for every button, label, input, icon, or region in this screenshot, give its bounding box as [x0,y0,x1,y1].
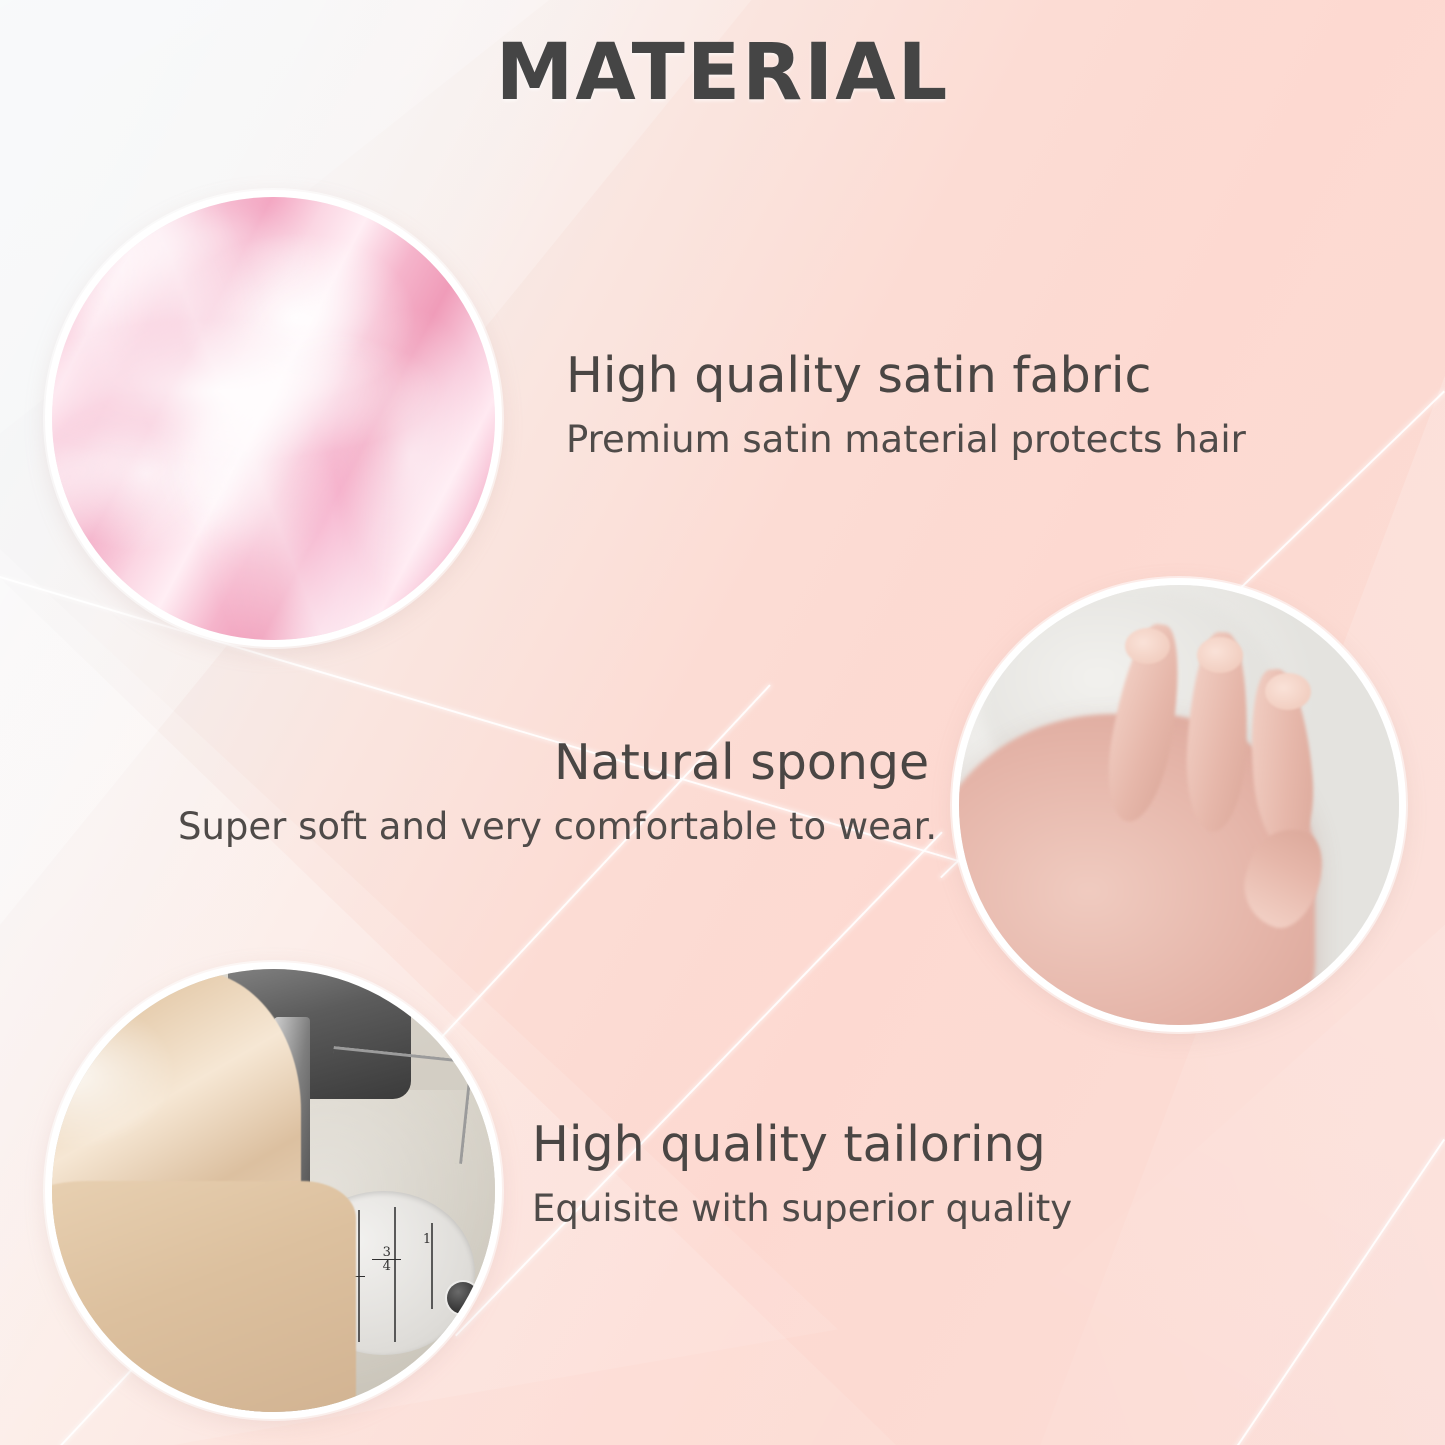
plate-marking-tq-denominator: 4 [372,1260,401,1273]
plate-marking-one-value: 1 [412,1233,441,1246]
feature-text-quality-tailoring: High quality tailoring Equisite with sup… [532,1117,1072,1232]
satin-fabric-lower-drape [45,1181,356,1419]
feature-heading-satin-fabric: High quality satin fabric [566,348,1246,404]
feature-subtitle-satin-fabric: Premium satin material protects hair [566,418,1246,462]
satin-texture [45,190,502,647]
sewing-machine-photo: 1 4 1 2 3 4 1 [45,962,502,1419]
feature-heading-quality-tailoring: High quality tailoring [532,1117,1072,1173]
satin-fold-1 [82,217,338,418]
feature-text-satin-fabric: High quality satin fabric Premium satin … [566,348,1246,463]
nail-middle [1197,637,1242,673]
satin-fabric-photo [45,190,502,647]
foam-texture [952,578,1406,1032]
feature-heading-natural-sponge: Natural sponge [178,735,937,791]
plate-marking-three-quarter: 3 4 [372,1246,401,1273]
plate-marking-one: 1 [412,1233,441,1246]
feature-text-natural-sponge: Natural sponge Super soft and very comfo… [178,735,937,850]
nail-index [1125,628,1170,664]
feature-image-satin-fabric [45,190,502,647]
sponge-photo [952,578,1406,1032]
thread-guide-arm [323,1046,473,1164]
feature-subtitle-natural-sponge: Super soft and very comfortable to wear. [178,805,937,849]
feature-subtitle-quality-tailoring: Equisite with superior quality [532,1187,1072,1231]
feature-image-natural-sponge [952,578,1406,1032]
satin-fold-2 [157,323,445,578]
material-infographic: MATERIAL [0,0,1445,1445]
nail-ring [1265,673,1310,709]
machine-body: 1 4 1 2 3 4 1 [45,962,502,1419]
feature-image-sewing-machine: 1 4 1 2 3 4 1 [45,962,502,1419]
plate-marking-tq-numerator: 3 [372,1246,401,1259]
page-title: MATERIAL [0,28,1445,118]
bobbin-cover-screw [447,1282,479,1314]
plate-guide-line-3 [394,1207,396,1342]
satin-fold-3 [45,437,228,592]
